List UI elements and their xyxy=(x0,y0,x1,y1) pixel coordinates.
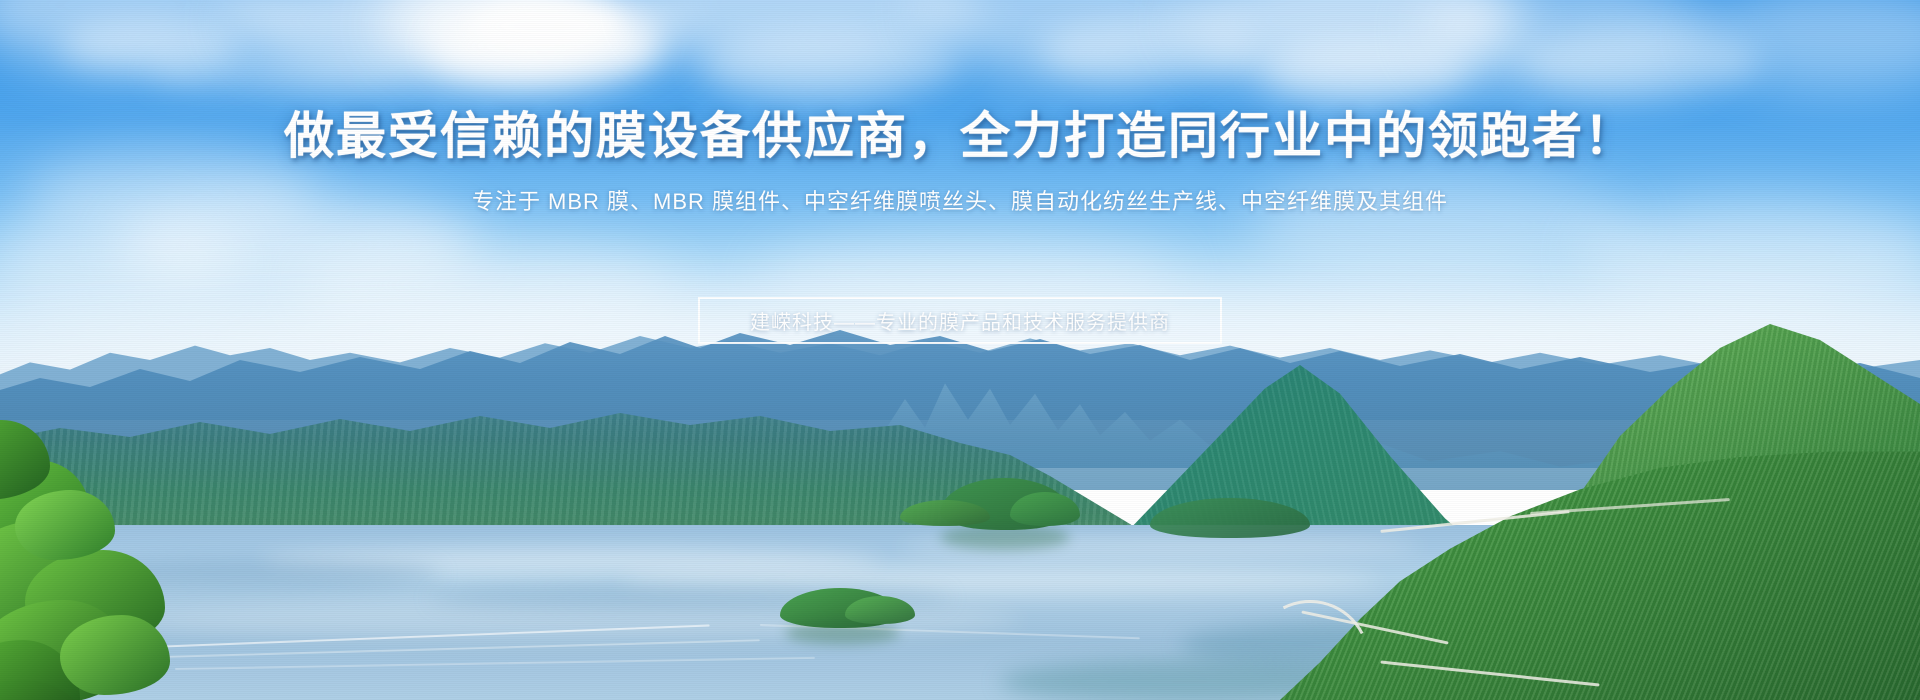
foreground-tree xyxy=(0,430,200,700)
banner-subtitle: 专注于 MBR 膜、MBR 膜组件、中空纤维膜喷丝头、膜自动化纺丝生产线、中空纤… xyxy=(0,184,1920,216)
tagline-text: 建嵘科技——专业的膜产品和技术服务提供商 xyxy=(750,306,1170,335)
hero-banner: 做最受信赖的膜设备供应商，全力打造同行业中的领跑者！ 专注于 MBR 膜、MBR… xyxy=(0,0,1920,700)
page-title: 做最受信赖的膜设备供应商，全力打造同行业中的领跑者！ xyxy=(0,96,1920,168)
tagline-box: 建嵘科技——专业的膜产品和技术服务提供商 xyxy=(698,297,1222,344)
